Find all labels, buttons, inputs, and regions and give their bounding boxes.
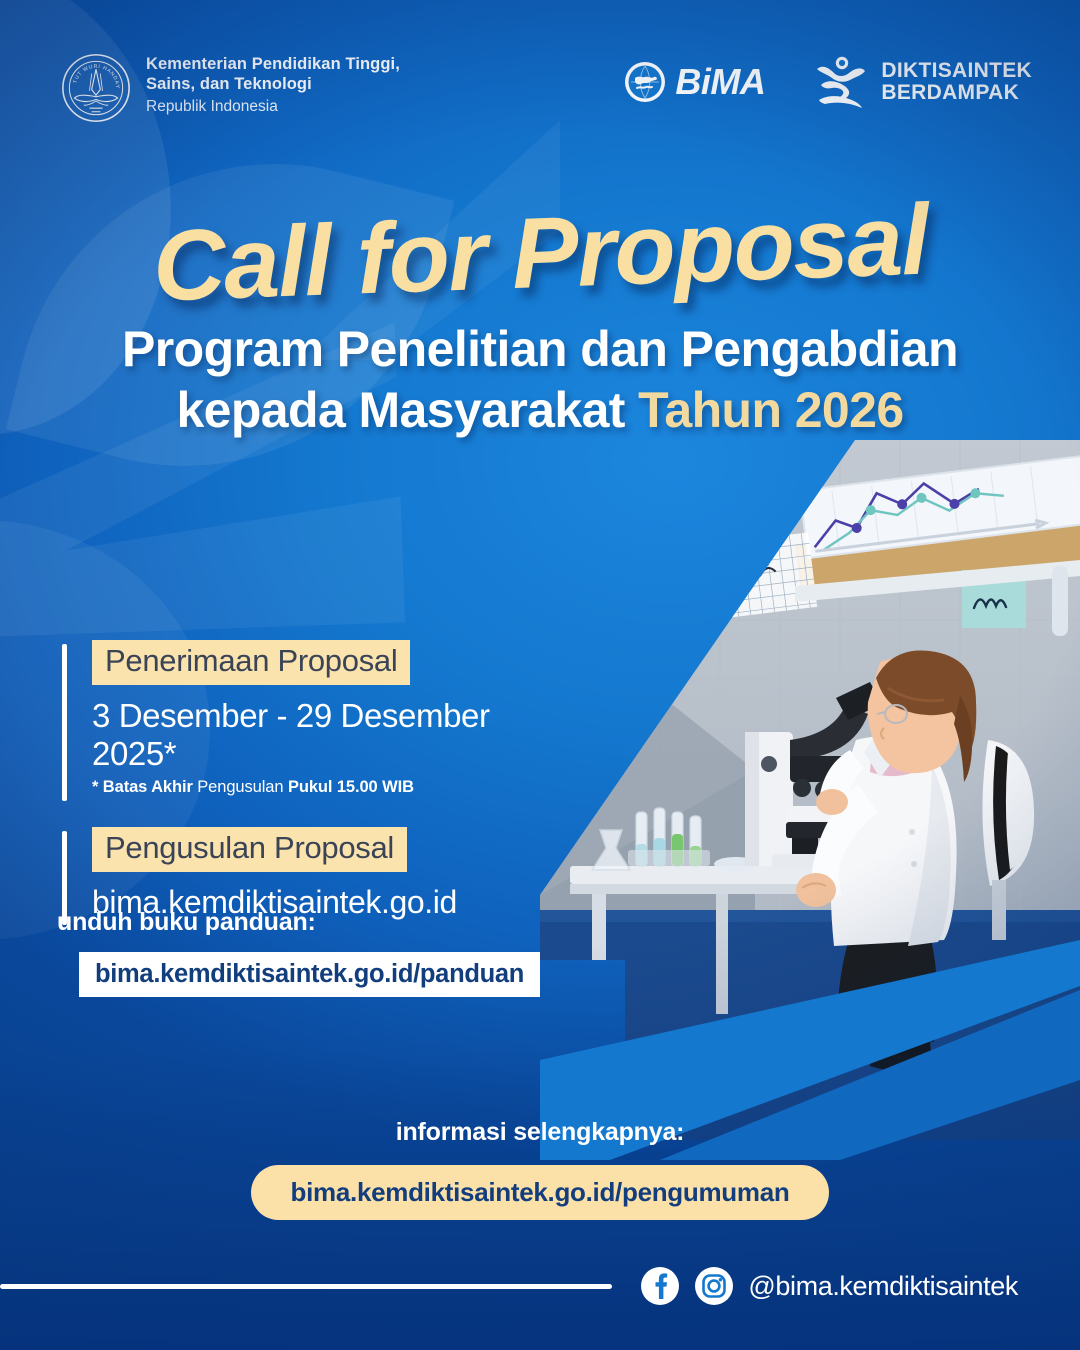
pengusulan-block: Pengusulan Proposal bima.kemdiktisaintek… — [62, 827, 562, 921]
poster-canvas: TUT WURI HANDAYANI Kementerian Pendidika… — [0, 0, 1080, 1350]
accent-bar — [62, 644, 67, 801]
panduan-url-box[interactable]: bima.kemdiktisaintek.go.id/panduan — [79, 952, 540, 997]
hero-subtitle-line2: kepada Masyarakat Tahun 2026 — [0, 380, 1080, 441]
penerimaan-chip: Penerimaan Proposal — [92, 640, 410, 685]
cta-section: informasi selengkapnya: bima.kemdiktisai… — [0, 1118, 1080, 1220]
social-handle[interactable]: @bima.kemdiktisaintek — [748, 1271, 1018, 1302]
diktisaintek-swoosh-icon — [811, 54, 869, 110]
hero-subtitle-year: Tahun 2026 — [638, 382, 903, 438]
penerimaan-dates: 3 Desember - 29 Desember 2025* — [92, 697, 562, 773]
note-bold-1: * Batas Akhir — [92, 778, 193, 796]
penerimaan-note: * Batas Akhir Pengusulan Pukul 15.00 WIB — [92, 778, 562, 797]
note-bold-2: Pukul 15.00 WIB — [288, 778, 414, 796]
partner-logos: BiMA DIKTISAINTEK BERDAMPAK — [623, 54, 1032, 110]
diktisaintek-logo: DIKTISAINTEK BERDAMPAK — [811, 54, 1032, 110]
poster-header: TUT WURI HANDAYANI Kementerian Pendidika… — [60, 50, 1032, 145]
hero-subtitle: Program Penelitian dan Pengabdian kepada… — [0, 319, 1080, 441]
ministry-line-1: Kementerian Pendidikan Tinggi, — [146, 54, 400, 74]
footer-divider-line — [0, 1284, 612, 1289]
ministry-line-3: Republik Indonesia — [146, 98, 400, 117]
facebook-icon[interactable] — [640, 1266, 680, 1306]
poster-footer: @bima.kemdiktisaintek — [0, 1262, 1080, 1310]
diktisaintek-line-1: DIKTISAINTEK — [881, 60, 1032, 82]
panduan-block: unduh buku panduan: bima.kemdiktisaintek… — [57, 908, 617, 997]
hero-section: Call for Proposal Program Penelitian dan… — [0, 196, 1080, 441]
hero-subtitle-line1: Program Penelitian dan Pengabdian — [0, 319, 1080, 380]
cta-label: informasi selengkapnya: — [0, 1118, 1080, 1147]
cta-url-pill[interactable]: bima.kemdiktisaintek.go.id/pengumuman — [251, 1165, 830, 1220]
note-normal: Pengusulan — [193, 778, 288, 796]
diktisaintek-line-2: BERDAMPAK — [881, 82, 1032, 104]
pengusulan-chip: Pengusulan Proposal — [92, 827, 407, 872]
ministry-line-2: Sains, dan Teknologi — [146, 74, 400, 94]
bima-globe-icon — [623, 60, 667, 104]
bima-logo: BiMA — [623, 60, 765, 104]
penerimaan-block: Penerimaan Proposal 3 Desember - 29 Dese… — [62, 640, 562, 797]
hero-subtitle-main: kepada Masyarakat — [176, 382, 624, 438]
instagram-icon[interactable] — [694, 1266, 734, 1306]
panduan-label: unduh buku panduan: — [57, 908, 617, 937]
info-section: Penerimaan Proposal 3 Desember - 29 Dese… — [62, 640, 562, 951]
tut-wuri-handayani-logo: TUT WURI HANDAYANI — [60, 52, 132, 124]
page-title: Call for Proposal — [151, 183, 929, 325]
bima-wordmark: BiMA — [675, 61, 765, 103]
social-media-group: @bima.kemdiktisaintek — [640, 1266, 1080, 1306]
